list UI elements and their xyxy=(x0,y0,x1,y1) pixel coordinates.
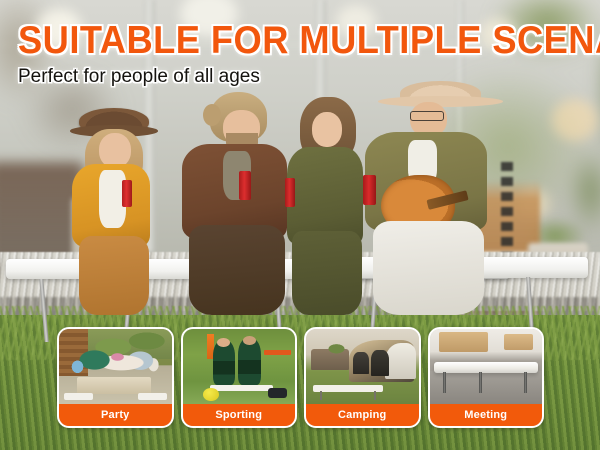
player-head xyxy=(217,338,229,347)
glasses-icon xyxy=(410,111,444,120)
cot-leg xyxy=(320,391,322,400)
dress-skirt xyxy=(292,231,361,315)
bokeh-light xyxy=(552,99,598,141)
red-can xyxy=(122,180,133,207)
person-man-with-guitar xyxy=(360,81,492,315)
table-leg xyxy=(443,372,446,393)
white-folding-table xyxy=(434,362,538,373)
field-banner xyxy=(264,350,291,355)
soccer-ball-icon xyxy=(203,388,219,401)
card-photo-camping xyxy=(306,329,419,404)
cot-leg xyxy=(374,391,376,400)
scenario-card-strip: Party Sporting xyxy=(57,327,544,428)
young-player xyxy=(238,339,262,385)
folding-cot xyxy=(313,385,383,392)
face xyxy=(312,112,343,147)
white-trousers xyxy=(373,221,484,315)
table-flowers xyxy=(104,349,131,366)
trousers xyxy=(79,236,148,315)
wood-cabinet xyxy=(504,334,533,351)
folding-bench xyxy=(210,385,273,391)
folding-bench xyxy=(64,393,93,400)
trousers xyxy=(189,225,285,315)
scenario-label-party: Party xyxy=(59,404,172,426)
banner-text-block: SUITABLE FOR MULTIPLE SCENARIOS Perfect … xyxy=(18,22,600,88)
scenario-card-party[interactable]: Party xyxy=(57,327,174,428)
tent-door xyxy=(371,350,389,376)
person-woman-yellow-jacket xyxy=(66,108,162,315)
face xyxy=(99,133,132,168)
young-player xyxy=(213,341,236,385)
folding-bench xyxy=(138,393,167,400)
scenario-card-camping[interactable]: Camping xyxy=(304,327,421,428)
scenario-label-meeting: Meeting xyxy=(430,404,543,426)
player-head xyxy=(243,336,255,345)
card-photo-meeting xyxy=(430,329,543,404)
camping-awning xyxy=(385,343,417,379)
red-can xyxy=(239,171,250,200)
wood-cabinet xyxy=(439,332,489,352)
promo-banner: SUITABLE FOR MULTIPLE SCENARIOS Perfect … xyxy=(0,0,600,450)
red-can xyxy=(363,175,376,205)
page-subtitle: Perfect for people of all ages xyxy=(18,66,600,88)
table-leg xyxy=(479,372,482,393)
scenario-label-sporting: Sporting xyxy=(183,404,296,426)
scenario-card-meeting[interactable]: Meeting xyxy=(428,327,545,428)
card-photo-party xyxy=(59,329,172,404)
red-can xyxy=(285,178,296,207)
scenario-card-sporting[interactable]: Sporting xyxy=(181,327,298,428)
olive-dress xyxy=(287,147,364,244)
table-leg xyxy=(524,372,527,393)
page-title: SUITABLE FOR MULTIPLE SCENARIOS xyxy=(18,22,600,59)
garden-table xyxy=(77,377,151,394)
scenario-label-camping: Camping xyxy=(306,404,419,426)
background-tree xyxy=(324,340,349,357)
sports-bag xyxy=(268,388,287,399)
hair-bun xyxy=(203,104,221,127)
person-man-brown-shirt xyxy=(180,90,294,315)
card-photo-sporting xyxy=(183,329,296,404)
tent-door xyxy=(353,352,369,375)
